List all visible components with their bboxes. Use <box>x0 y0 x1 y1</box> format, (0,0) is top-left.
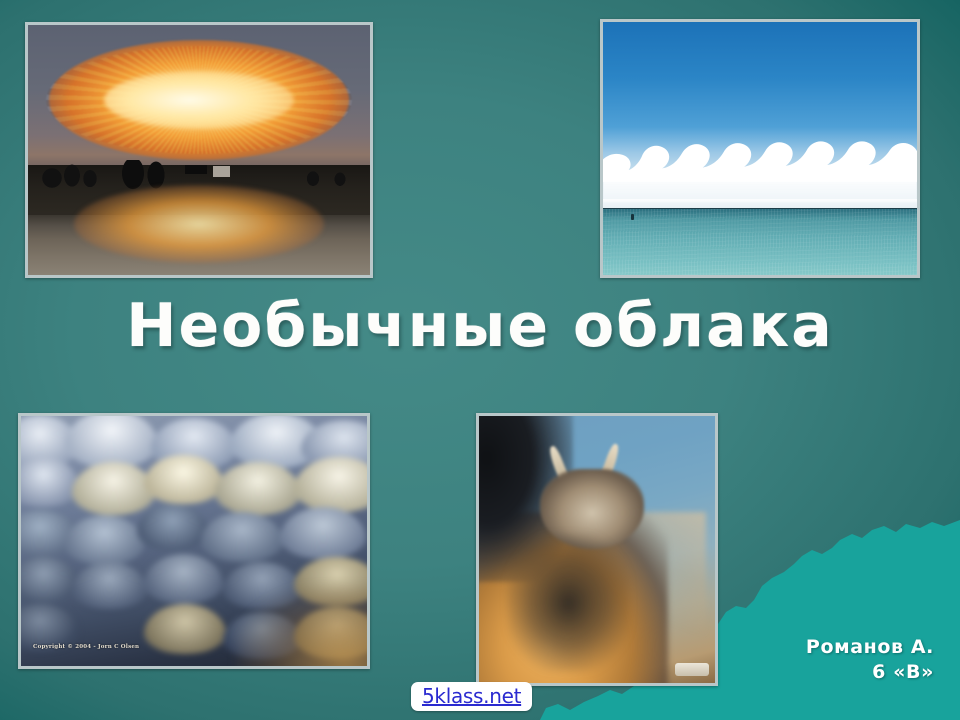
presentation-slide: Copyright © 2004 - Jorn C Olsen Необычны… <box>0 0 960 720</box>
page-title: Необычные облака <box>0 296 960 356</box>
author-block: Романов А. 6 «В» <box>806 635 934 686</box>
photo-anvil-cloud <box>25 22 373 278</box>
photo-watermark-badge <box>675 663 709 676</box>
photo-mammatus-clouds: Copyright © 2004 - Jorn C Olsen <box>18 413 370 669</box>
anvil-cloud-artwork <box>28 25 370 275</box>
photo-wave-clouds <box>600 19 920 278</box>
author-grade: 6 «В» <box>806 660 934 686</box>
mammatus-artwork: Copyright © 2004 - Jorn C Olsen <box>21 416 367 666</box>
photo-copyright-text: Copyright © 2004 - Jorn C Olsen <box>33 644 139 650</box>
demon-cloud-artwork <box>479 416 715 683</box>
site-watermark[interactable]: 5klass.net <box>411 682 532 711</box>
site-watermark-link[interactable]: 5klass.net <box>422 684 521 708</box>
photo-demon-cloud <box>476 413 718 686</box>
author-name: Романов А. <box>806 635 934 661</box>
wave-clouds-artwork <box>603 22 917 275</box>
